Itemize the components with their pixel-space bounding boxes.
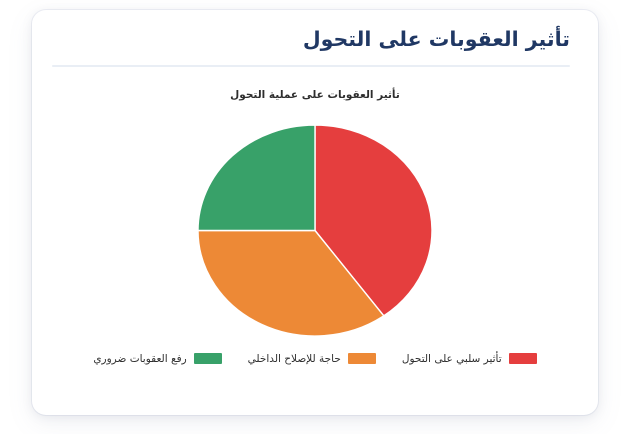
chart-title: تأثير العقوبات على عملية التحول [32, 89, 598, 101]
page-title: تأثير العقوبات على التحول [60, 26, 570, 53]
chart-card: تأثير العقوبات على التحول تأثير العقوبات… [32, 10, 598, 415]
legend-label: حاجة للإصلاح الداخلي [248, 353, 341, 365]
legend-item[interactable]: حاجة للإصلاح الداخلي [248, 353, 376, 365]
pie-chart-figure: تأثير العقوبات على عملية التحول تأثير سل… [32, 67, 598, 387]
legend-swatch-icon [194, 353, 222, 364]
pie-chart-plot-area [198, 125, 432, 336]
chart-legend: تأثير سلبي على التحولحاجة للإصلاح الداخل… [32, 353, 598, 365]
legend-item[interactable]: رفع العقوبات ضروري [93, 353, 221, 365]
card-header: تأثير العقوبات على التحول [32, 10, 598, 67]
legend-swatch-icon [509, 353, 537, 364]
legend-item[interactable]: تأثير سلبي على التحول [402, 353, 537, 365]
legend-label: رفع العقوبات ضروري [93, 353, 186, 365]
legend-label: تأثير سلبي على التحول [402, 353, 502, 365]
pie-slice [198, 125, 315, 231]
pie-slice-group [198, 125, 432, 336]
pie-chart-svg [198, 125, 432, 336]
legend-swatch-icon [348, 353, 376, 364]
